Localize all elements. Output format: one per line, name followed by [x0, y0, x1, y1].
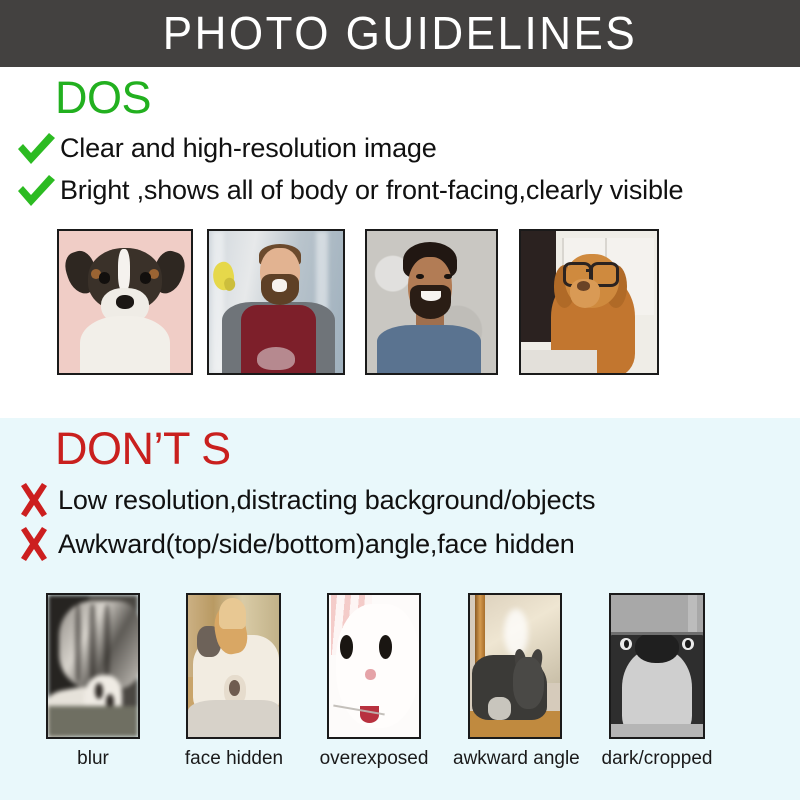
dos-heading: DOS	[55, 75, 151, 120]
donts-photo-strip: blur face hidden overexposed awkward ang…	[0, 593, 800, 741]
dos-bullet-1: Clear and high-resolution image	[14, 129, 437, 167]
photo-blurry-sleeping-cat	[46, 593, 140, 739]
caption-face-hidden: face hidden	[178, 749, 290, 768]
dos-bullet-1-text: Clear and high-resolution image	[60, 135, 437, 162]
photo-bearded-man-laughing	[207, 229, 345, 375]
photo-smiling-man-blue-shirt	[365, 229, 498, 375]
page-title: PHOTO GUIDELINES	[163, 10, 637, 57]
dos-bullet-2: Bright ,shows all of body or front-facin…	[14, 171, 683, 209]
photo-guidelines-page: PHOTO GUIDELINES DOS Clear and high-reso…	[0, 0, 800, 800]
photo-cat-on-windowsill	[468, 593, 562, 739]
caption-dark-cropped: dark/cropped	[593, 749, 721, 768]
x-icon	[14, 526, 54, 562]
photo-dog-pink-backdrop	[57, 229, 193, 375]
caption-overexposed: overexposed	[318, 749, 430, 768]
dos-photo-strip	[0, 229, 800, 379]
photo-overexposed-white-cat	[327, 593, 421, 739]
photo-sleeping-dog-face-hidden	[186, 593, 281, 739]
photo-dark-cropped-dog-nose	[609, 593, 705, 739]
donts-section: DON’T S Low resolution,distracting backg…	[0, 418, 800, 800]
caption-blur: blur	[46, 749, 140, 768]
dont-bullet-2-text: Awkward(top/side/bottom)angle,face hidde…	[58, 531, 575, 558]
dos-section: DOS Clear and high-resolution image Brig…	[0, 67, 800, 418]
donts-heading: DON’T S	[55, 426, 231, 471]
caption-awkward-angle: awkward angle	[453, 749, 577, 768]
dont-bullet-1: Low resolution,distracting background/ob…	[14, 482, 595, 518]
photo-dog-with-glasses	[519, 229, 659, 375]
x-icon	[14, 482, 54, 518]
dont-bullet-2: Awkward(top/side/bottom)angle,face hidde…	[14, 526, 575, 562]
check-icon	[14, 129, 58, 167]
header-bar: PHOTO GUIDELINES	[0, 0, 800, 67]
check-icon	[14, 171, 58, 209]
dos-bullet-2-text: Bright ,shows all of body or front-facin…	[60, 177, 683, 204]
dont-bullet-1-text: Low resolution,distracting background/ob…	[58, 487, 595, 514]
